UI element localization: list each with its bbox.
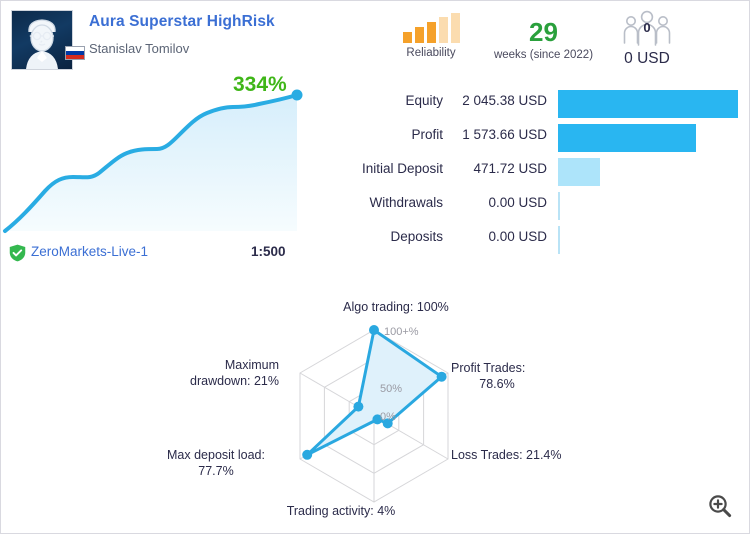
radar-label-profit-trades-line2: 78.6% — [451, 377, 543, 393]
stat-value: 471.72 USD — [449, 161, 547, 176]
stat-value: 0.00 USD — [449, 195, 547, 210]
table-row: Initial Deposit 471.72 USD — [331, 155, 750, 189]
stat-label: Profit — [331, 127, 443, 142]
stat-label: Initial Deposit — [331, 161, 443, 176]
green-shield-check-icon — [9, 244, 26, 262]
radar-label-loss-trades: Loss Trades: 21.4% — [451, 448, 586, 464]
avatar-face-icon — [12, 11, 72, 69]
stat-value: 1 573.66 USD — [449, 127, 547, 142]
stats-table: Equity 2 045.38 USD Profit 1 573.66 USD … — [331, 87, 750, 257]
stat-bar-track — [558, 155, 748, 189]
stat-value: 2 045.38 USD — [449, 93, 547, 108]
radar-chart[interactable]: 100+% 50% 0% Algo trading: 100% Profit T… — [151, 296, 621, 535]
table-row: Deposits 0.00 USD — [331, 223, 750, 257]
kpi-weeks: 29 weeks (since 2022) — [481, 19, 606, 61]
growth-percent: 334% — [233, 73, 287, 97]
radar-label-maximum-drawdown-line1: Maximum — [151, 358, 279, 374]
stat-bar — [558, 90, 738, 118]
stat-bar-track — [558, 121, 748, 155]
growth-end-point — [292, 90, 303, 101]
radar-label-maximum-drawdown-line2: drawdown: 21% — [151, 374, 279, 390]
table-row: Equity 2 045.38 USD — [331, 87, 750, 121]
radar-label-max-deposit-load-line2: 77.7% — [151, 464, 281, 480]
stat-label: Withdrawals — [331, 195, 443, 210]
stat-label: Deposits — [331, 229, 443, 244]
stat-bar — [558, 192, 560, 220]
radar-label-profit-trades-line1: Profit Trades: — [451, 361, 561, 377]
reliability-bars-icon — [389, 13, 473, 43]
stat-bar-track — [558, 189, 748, 223]
radar-ring-label-50: 50% — [380, 383, 402, 395]
reliability-label: Reliability — [389, 47, 473, 59]
broker-row: ZeroMarkets-Live-1 1:500 — [1, 241, 321, 267]
radar-label-algo-trading: Algo trading: 100% — [316, 300, 476, 316]
stat-label: Equity — [331, 93, 443, 108]
stat-bar — [558, 124, 696, 152]
account-header: Aura Superstar HighRisk Stanislav Tomilo… — [1, 1, 750, 79]
table-row: Profit 1 573.66 USD — [331, 121, 750, 155]
weeks-value: 29 — [481, 19, 606, 45]
radar-label-max-deposit-load: Max deposit load: 77.7% — [151, 448, 281, 479]
stat-bar — [558, 158, 600, 186]
radar-label-trading-activity: Trading activity: 4% — [246, 504, 436, 520]
radar-ring-label-100: 100+% — [384, 326, 419, 338]
leverage-value: 1:500 — [251, 244, 286, 259]
account-name[interactable]: Aura Superstar HighRisk — [89, 13, 275, 31]
avatar — [11, 10, 73, 70]
radar-label-maximum-drawdown: Maximum drawdown: 21% — [151, 358, 279, 389]
radar-label-max-deposit-load-line1: Max deposit load: — [151, 448, 281, 464]
growth-chart[interactable] — [1, 79, 313, 239]
weeks-label: weeks (since 2022) — [481, 49, 606, 61]
stat-bar-track — [558, 223, 748, 257]
radar-label-profit-trades: Profit Trades: 78.6% — [451, 361, 561, 392]
account-card: Aura Superstar HighRisk Stanislav Tomilo… — [0, 0, 750, 534]
stat-bar — [558, 226, 560, 254]
growth-area-fill — [5, 95, 297, 231]
broker-name[interactable]: ZeroMarkets-Live-1 — [31, 244, 148, 259]
radar-ring-label-0: 0% — [380, 411, 396, 423]
kpi-subscribers: 0 0 USD — [601, 9, 693, 67]
kpi-reliability: Reliability — [389, 13, 473, 59]
zoom-in-magnifier-icon[interactable] — [707, 493, 733, 519]
subscribers-count: 0 — [643, 20, 650, 35]
russia-flag-icon — [65, 46, 85, 60]
table-row: Withdrawals 0.00 USD — [331, 189, 750, 223]
stat-value: 0.00 USD — [449, 229, 547, 244]
subscribers-value: 0 USD — [601, 51, 693, 67]
stat-bar-track — [558, 87, 748, 121]
subscribers-people-icon: 0 — [617, 9, 677, 51]
account-owner: Stanislav Tomilov — [89, 41, 189, 56]
